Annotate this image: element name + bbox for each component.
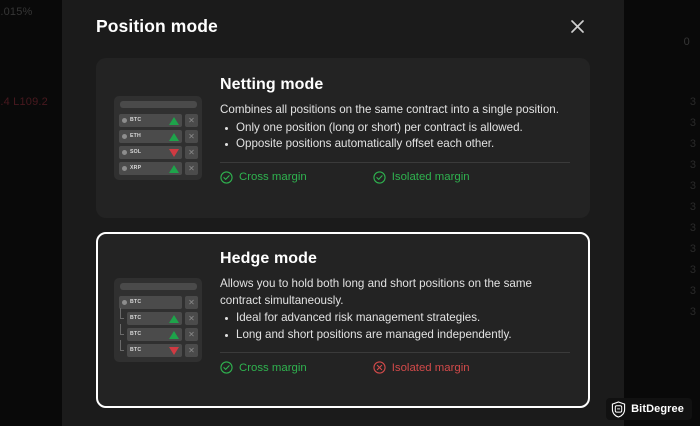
modal-header: Position mode — [96, 0, 590, 52]
netting-bullet-list: Only one position (long or short) per co… — [220, 120, 570, 153]
tree-branch-icon — [119, 344, 124, 357]
illustration-close-icon: ✕ — [185, 344, 198, 357]
coin-dot-icon — [122, 134, 127, 139]
status-badge-cross-margin: Cross margin — [220, 361, 307, 374]
trend-down-icon — [169, 347, 179, 355]
status-badge-label: Isolated margin — [392, 171, 470, 183]
status-badge-isolated-margin: Isolated margin — [373, 361, 470, 374]
hedge-title: Hedge mode — [220, 250, 570, 268]
illustration-ticker: BTC — [130, 316, 141, 321]
backdrop-price-alert: 6.4 L109.2 — [0, 96, 48, 108]
trend-up-icon — [169, 165, 179, 173]
hedge-description: Allows you to hold both long and short p… — [220, 276, 570, 309]
list-item: Only one position (long or short) per co… — [220, 120, 570, 137]
illustration-row: ETH ✕ — [119, 130, 198, 143]
illustration-position-cell: XRP — [119, 162, 182, 175]
netting-title: Netting mode — [220, 76, 570, 94]
backdrop-price-cell: 3 — [690, 260, 696, 281]
illustration-ticker: BTC — [130, 118, 141, 123]
illustration-close-icon: ✕ — [185, 328, 198, 341]
illustration-row: BTC ✕ — [119, 328, 198, 341]
backdrop-price-cell: 3 — [690, 113, 696, 134]
illustration-ticker: BTC — [130, 348, 141, 353]
hedge-divider — [220, 352, 570, 353]
trend-up-icon — [169, 331, 179, 339]
coin-dot-icon — [122, 150, 127, 155]
hedge-card-body: Hedge mode Allows you to hold both long … — [220, 249, 570, 391]
illustration-row: BTC ✕ — [119, 312, 198, 325]
illustration-header-bar — [120, 101, 197, 108]
trend-up-icon — [169, 315, 179, 323]
backdrop-funding-rate: 0.015% — [0, 6, 33, 18]
backdrop-price-cell: 3 — [690, 302, 696, 323]
trend-up-icon — [169, 133, 179, 141]
illustration-close-icon: ✕ — [185, 312, 198, 325]
list-item: Opposite positions automatically offset … — [220, 136, 570, 153]
illustration-close-icon: ✕ — [185, 162, 198, 175]
illustration-close-icon: ✕ — [185, 130, 198, 143]
illustration-row: SOL ✕ — [119, 146, 198, 159]
option-card-hedge[interactable]: BTC ✕ BTC ✕ BTC ✕ — [96, 232, 590, 408]
backdrop-price-cell: 3 — [690, 239, 696, 260]
backdrop-top-right-value: 0 — [684, 36, 690, 48]
backdrop-price-cell: 3 — [690, 176, 696, 197]
backdrop-price-cell: 3 — [690, 134, 696, 155]
illustration-position-cell: BTC — [127, 328, 182, 341]
illustration-ticker: XRP — [130, 166, 141, 171]
bitdegree-watermark: BitDegree — [606, 398, 692, 420]
hedge-margin-row: Cross margin Isolated margin — [220, 361, 570, 374]
list-item: Long and short positions are managed ind… — [220, 327, 570, 344]
illustration-ticker: BTC — [130, 332, 141, 337]
netting-divider — [220, 162, 570, 163]
illustration-position-cell: BTC — [127, 344, 182, 357]
backdrop-price-cell: 3 — [690, 218, 696, 239]
backdrop-price-cell: 3 — [690, 92, 696, 113]
watermark-label: BitDegree — [631, 403, 684, 415]
status-badge-label: Cross margin — [239, 362, 307, 374]
illustration-position-cell: BTC — [119, 296, 182, 309]
status-badge-label: Cross margin — [239, 171, 307, 183]
coin-dot-icon — [122, 166, 127, 171]
close-icon[interactable] — [564, 13, 590, 39]
illustration-row: BTC ✕ — [119, 114, 198, 127]
illustration-ticker: BTC — [130, 300, 141, 305]
coin-dot-icon — [122, 300, 127, 305]
bitdegree-shield-logo-icon — [611, 401, 626, 418]
illustration-ticker: ETH — [130, 134, 141, 139]
backdrop-price-cell: 3 — [690, 281, 696, 302]
illustration-position-cell: ETH — [119, 130, 182, 143]
illustration-header-bar — [120, 283, 197, 290]
page-title: Position mode — [96, 16, 218, 37]
illustration-close-icon: ✕ — [185, 114, 198, 127]
netting-illustration: BTC ✕ ETH ✕ SOL ✕ — [114, 96, 202, 180]
netting-card-body: Netting mode Combines all positions on t… — [220, 75, 570, 201]
illustration-position-cell: BTC — [127, 312, 182, 325]
trend-down-icon — [169, 149, 179, 157]
status-badge-cross-margin: Cross margin — [220, 171, 307, 184]
illustration-ticker: SOL — [130, 150, 141, 155]
illustration-position-cell: SOL — [119, 146, 182, 159]
illustration-close-icon: ✕ — [185, 296, 198, 309]
check-circle-icon — [373, 171, 386, 184]
netting-description: Combines all positions on the same contr… — [220, 102, 570, 119]
coin-dot-icon — [122, 118, 127, 123]
cross-circle-icon — [373, 361, 386, 374]
trend-up-icon — [169, 117, 179, 125]
hedge-bullet-list: Ideal for advanced risk management strat… — [220, 310, 570, 343]
netting-margin-row: Cross margin Isolated margin — [220, 171, 570, 184]
list-item: Ideal for advanced risk management strat… — [220, 310, 570, 327]
backdrop-price-column: 3 3 3 3 3 3 3 3 3 3 3 — [690, 92, 696, 323]
option-card-netting[interactable]: BTC ✕ ETH ✕ SOL ✕ — [96, 58, 590, 218]
status-badge-isolated-margin: Isolated margin — [373, 171, 470, 184]
illustration-row: BTC ✕ — [119, 344, 198, 357]
illustration-close-icon: ✕ — [185, 146, 198, 159]
check-circle-icon — [220, 361, 233, 374]
hedge-illustration: BTC ✕ BTC ✕ BTC ✕ — [114, 278, 202, 362]
position-mode-modal: Position mode BTC ✕ ETH — [62, 0, 624, 426]
check-circle-icon — [220, 171, 233, 184]
backdrop-price-cell: 3 — [690, 155, 696, 176]
backdrop-price-cell: 3 — [690, 197, 696, 218]
status-badge-label: Isolated margin — [392, 362, 470, 374]
illustration-position-cell: BTC — [119, 114, 182, 127]
illustration-row: XRP ✕ — [119, 162, 198, 175]
illustration-row: BTC ✕ — [119, 296, 198, 309]
